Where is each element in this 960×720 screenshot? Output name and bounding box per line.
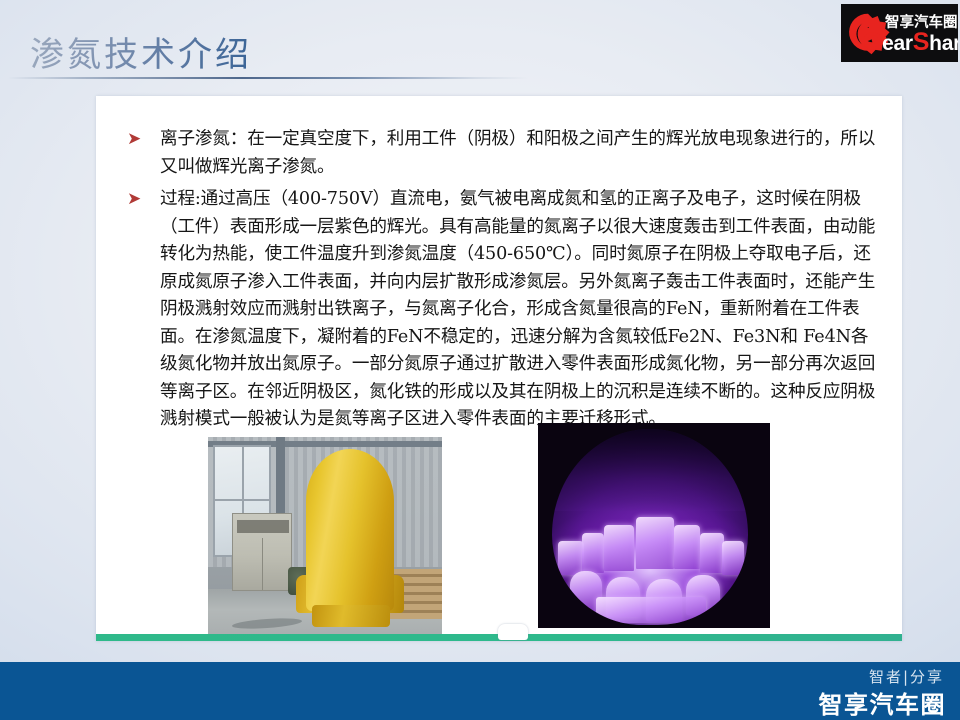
ion-nitriding-furnace-photo — [208, 437, 442, 641]
content-card: ➤ 离子渗氮：在一定真空度下，利用工件（阴极）和阳极之间产生的辉光放电现象进行的… — [96, 96, 902, 641]
title-divider — [8, 77, 528, 79]
list-item: ➤ 过程:通过高压（400-750V）直流电，氨气被电离成氮和氢的正离子及电子，… — [127, 186, 882, 434]
bullet-text: 过程:通过高压（400-750V）直流电，氨气被电离成氮和氢的正离子及电子，这时… — [160, 189, 875, 429]
footer-tagline: 智者|分享 — [869, 666, 944, 687]
glow-discharge-viewport-photo — [538, 423, 770, 628]
bullet-arrow-icon: ➤ — [127, 130, 145, 148]
bullet-text: 离子渗氮：在一定真空度下，利用工件（阴极）和阳极之间产生的辉光放电现象进行的，所… — [160, 129, 875, 177]
logo-g-letter: G — [863, 28, 882, 56]
logo-english-text: GearShare — [863, 28, 958, 57]
list-item: ➤ 离子渗氮：在一定真空度下，利用工件（阴极）和阳极之间产生的辉光放电现象进行的… — [127, 126, 882, 181]
logo-ear-letters: ear — [882, 32, 913, 55]
bullet-list: ➤ 离子渗氮：在一定真空度下，利用工件（阴极）和阳极之间产生的辉光放电现象进行的… — [127, 126, 882, 439]
logo-hare-letters: hare — [929, 32, 958, 55]
logo-s-letter: S — [913, 28, 929, 56]
page-title: 渗氮技术介绍 — [30, 27, 252, 76]
slide-root: 智享汽车圈 GearShare 渗氮技术介绍 ➤ 离子渗氮：在一定真空度下，利用… — [0, 0, 960, 720]
brand-logo: 智享汽车圈 GearShare — [841, 4, 958, 62]
card-notch — [498, 624, 528, 640]
footer-bar: 智者|分享 智享汽车圈 — [0, 662, 960, 720]
bullet-arrow-icon: ➤ — [127, 190, 145, 208]
footer-brand: 智享汽车圈 — [819, 685, 947, 720]
viewport-circle — [552, 429, 748, 625]
